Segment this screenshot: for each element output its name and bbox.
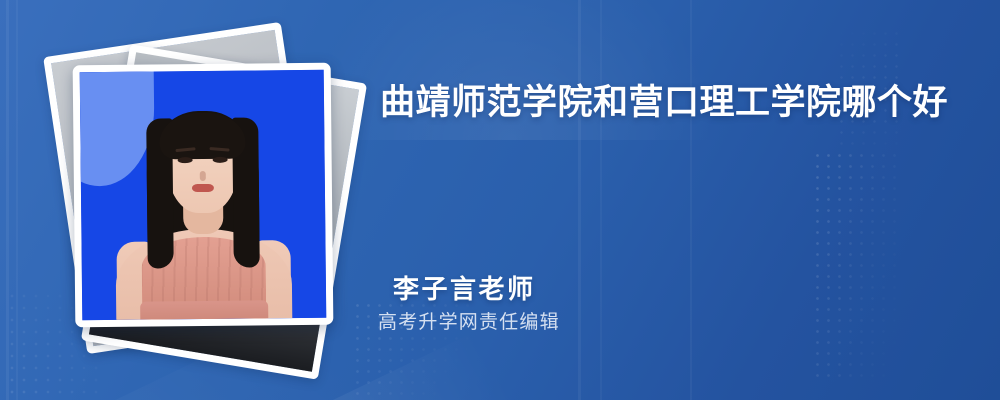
avatar-hair-front [159, 113, 245, 160]
article-cover-banner: 曲靖师范学院和营口理工学院哪个好 李子言老师 高考升学网责任编辑 [0, 0, 1000, 400]
article-title: 曲靖师范学院和营口理工学院哪个好 [380, 74, 952, 132]
author-role: 高考升学网责任编辑 [378, 308, 560, 338]
banner-text-column: 曲靖师范学院和营口理工学院哪个好 李子言老师 高考升学网责任编辑 [378, 0, 978, 400]
photo-corner-highlight [80, 70, 155, 187]
avatar-garment-waist [140, 300, 268, 320]
author-block: 李子言老师 高考升学网责任编辑 [378, 272, 560, 338]
author-name: 李子言老师 [378, 272, 560, 306]
photo-stack [48, 34, 354, 370]
avatar-eye-right [213, 156, 228, 162]
author-photo-frame [73, 63, 334, 328]
author-avatar [80, 70, 327, 321]
avatar-eye-left [178, 157, 193, 163]
avatar-nose [200, 171, 206, 181]
avatar-mouth [192, 184, 214, 192]
